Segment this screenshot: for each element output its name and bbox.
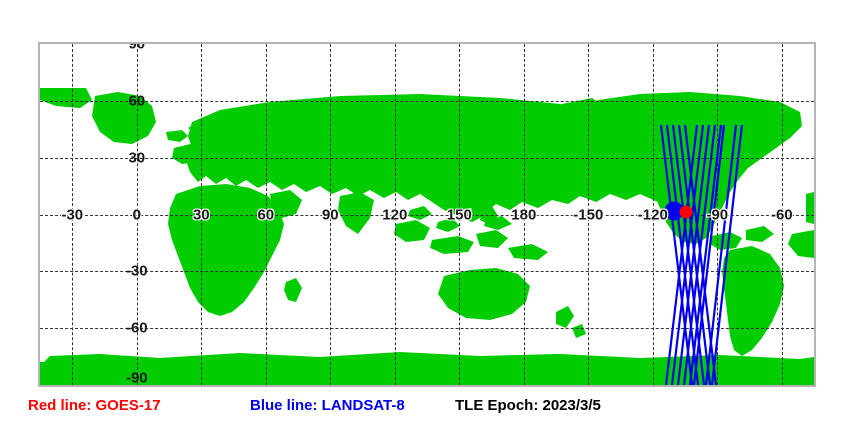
lon-label: -150: [573, 206, 603, 223]
world-map-panel: -30 0 30 60 90 120 150 180 -150 -120 -90…: [38, 42, 816, 387]
lat-label: 30: [128, 149, 145, 166]
lon-label: 30: [193, 206, 210, 223]
legend-red-line: Red line: GOES-17: [28, 396, 161, 416]
lon-label: 180: [511, 206, 536, 223]
map-legend: Red line: GOES-17 Blue line: LANDSAT-8 T…: [0, 396, 850, 418]
lon-label: 60: [257, 206, 274, 223]
lat-label: -90: [126, 370, 148, 386]
lat-label: 90: [128, 44, 145, 53]
legend-tle-epoch: TLE Epoch: 2023/3/5: [455, 396, 601, 416]
lon-label: -30: [61, 206, 83, 223]
lat-label: 0: [133, 206, 141, 223]
lat-label: 60: [128, 92, 145, 109]
lat-label: -30: [126, 263, 148, 280]
axis-label-layer: -30 0 30 60 90 120 150 180 -150 -120 -90…: [40, 44, 814, 385]
lon-label: -120: [638, 206, 668, 223]
lon-label: -60: [771, 206, 793, 223]
lon-label: 150: [447, 206, 472, 223]
lon-label: -90: [706, 206, 728, 223]
map-canvas: -30 0 30 60 90 120 150 180 -150 -120 -90…: [40, 44, 814, 385]
lon-label: 90: [322, 206, 339, 223]
lon-label: 120: [382, 206, 407, 223]
legend-blue-line: Blue line: LANDSAT-8: [250, 396, 405, 416]
lat-label: -60: [126, 320, 148, 337]
